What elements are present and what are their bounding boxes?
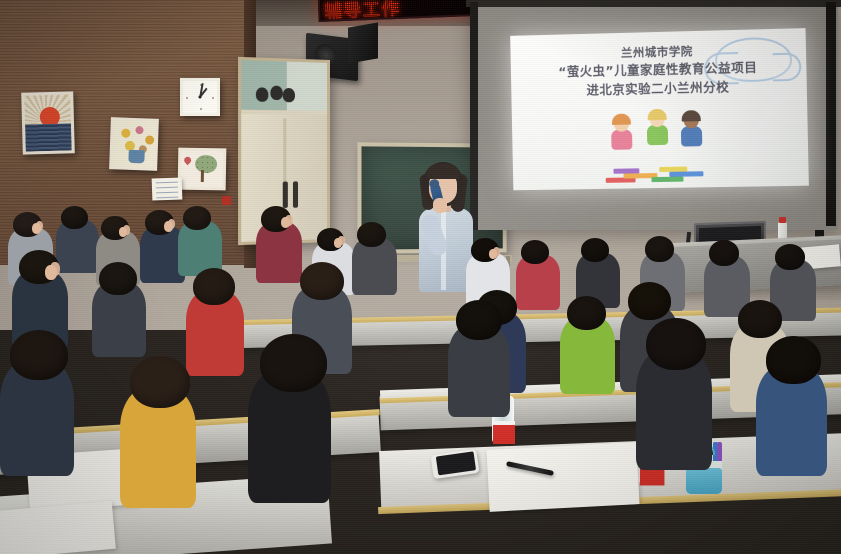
audience-head — [567, 296, 606, 330]
audience-head — [775, 244, 805, 270]
clapping-hand — [493, 247, 500, 257]
audience-head — [628, 282, 671, 320]
audience-head — [357, 222, 386, 247]
flower-dot — [121, 129, 130, 138]
tree-artwork-frame — [178, 148, 227, 191]
projection-screen-roller — [466, 0, 841, 7]
slide-children-illustration — [598, 115, 719, 183]
artwork-tree-canopy — [195, 154, 217, 172]
artwork-sea — [25, 124, 72, 152]
sunrise-artwork — [24, 94, 71, 151]
clapping-hand — [123, 225, 130, 235]
slide-kid-girl-orange — [606, 116, 637, 168]
transom-glass-right — [287, 62, 328, 111]
slide-title-block: 兰州城市学院 “萤火虫”儿童家庭性教育公益项目 进北京实验二小兰州分校 — [510, 40, 807, 101]
screen-right-edge — [826, 2, 836, 226]
audience-head — [183, 206, 211, 230]
wall-label-card — [152, 177, 183, 200]
clapping-hand — [50, 262, 60, 276]
clock-face — [183, 81, 217, 113]
clapping-hand — [338, 236, 345, 245]
paper-left-front[interactable] — [0, 501, 116, 554]
audience-head — [10, 330, 68, 380]
door-transom-window — [241, 60, 327, 115]
artwork-heart-icon — [183, 156, 193, 166]
slide-kid-boy-green — [642, 112, 673, 169]
audience-head — [738, 300, 782, 338]
audience-head — [645, 236, 674, 262]
slide-kid-blue — [676, 113, 707, 168]
lecture-hall-photo: 辅导工作 — [0, 0, 841, 554]
audience-head — [99, 262, 137, 295]
wall-red-box — [222, 196, 231, 205]
clapping-hand — [36, 221, 43, 231]
pencil-case-cup — [686, 468, 722, 494]
audience-head — [581, 238, 609, 262]
door-handle-right[interactable] — [293, 181, 298, 207]
clapping-hand — [168, 219, 175, 229]
audience-head — [521, 240, 549, 264]
wall-clock — [180, 78, 220, 116]
audience-head — [456, 300, 502, 340]
flower-dot — [145, 135, 154, 144]
sunrise-artwork-frame — [21, 91, 75, 154]
tree-artwork — [181, 151, 224, 188]
clock-center-pin — [199, 96, 202, 99]
smartphone-screen — [436, 451, 476, 475]
audience-head — [646, 318, 706, 370]
paper-center[interactable] — [486, 442, 639, 512]
audience-head — [61, 206, 88, 229]
bottle-cap — [779, 217, 786, 223]
projected-slide: 兰州城市学院 “萤火虫”儿童家庭性教育公益项目 进北京实验二小兰州分校 — [510, 28, 809, 190]
presenter-fringe — [426, 164, 460, 179]
audience-head — [260, 334, 327, 392]
audience-head — [709, 240, 739, 266]
flower-artwork — [112, 120, 156, 167]
artwork-tree-trunk — [201, 170, 204, 182]
clapping-hand — [285, 215, 293, 226]
audience-head — [130, 356, 190, 408]
door-handle-left[interactable] — [283, 181, 288, 208]
flower-dot — [135, 126, 143, 134]
audience-head — [193, 268, 235, 305]
transom-glass-left — [241, 60, 286, 110]
flower-artwork-frame — [109, 117, 159, 171]
bottle-label — [493, 425, 515, 444]
artwork-vase — [128, 150, 144, 164]
presenter-hand — [433, 198, 447, 213]
audience-head — [300, 262, 344, 300]
ceiling-speaker — [348, 22, 378, 63]
audience-head — [766, 336, 821, 384]
